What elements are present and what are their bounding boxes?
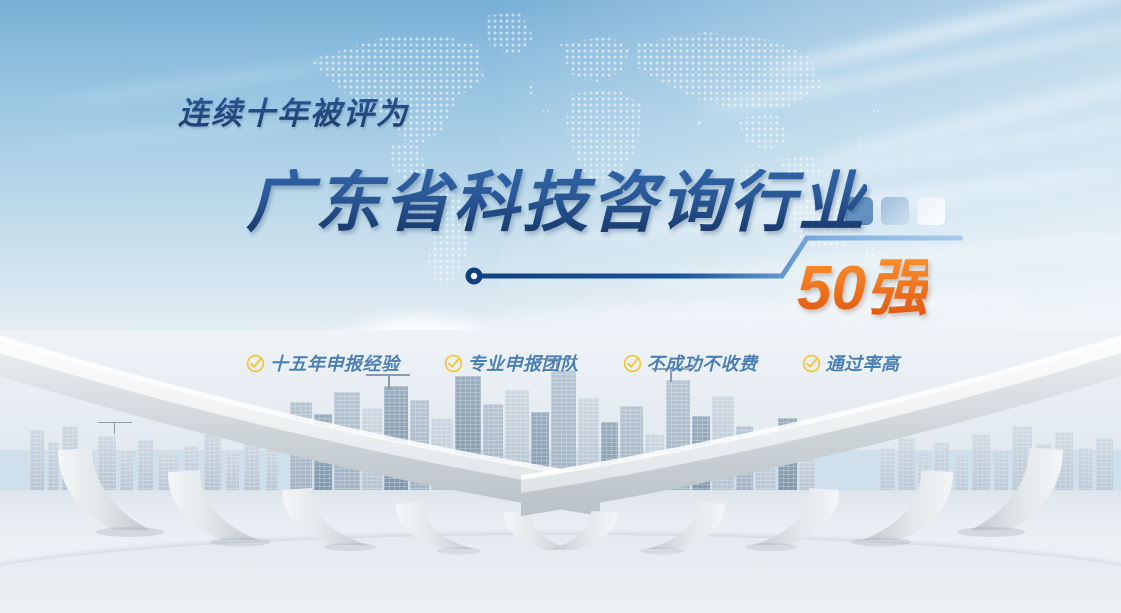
check-circle-icon: [802, 354, 821, 373]
check-circle-icon: [623, 354, 642, 373]
feature-label: 不成功不收费: [647, 350, 758, 376]
headline-text: 广东省科技咨询行业: [246, 169, 867, 235]
feature-label: 专业申报团队: [468, 350, 579, 376]
feature-item: 不成功不收费: [623, 350, 758, 376]
check-circle-icon: [444, 354, 463, 373]
feature-item: 十五年申报经验: [246, 350, 400, 376]
chip-mid-blue-icon: [881, 197, 909, 225]
feature-item: 通过率高: [802, 350, 900, 376]
feature-label: 通过率高: [826, 350, 900, 376]
badge-50-strong: 50强: [797, 258, 928, 320]
chip-white-icon: [917, 197, 945, 225]
check-circle-icon: [246, 354, 265, 373]
kicker-text: 连续十年被评为: [178, 88, 409, 133]
promo-banner: 连续十年被评为 广东省科技咨询行业 50强 十五年申报经验 专业申报团队 不成功…: [0, 0, 1121, 613]
feature-list: 十五年申报经验 专业申报团队 不成功不收费 通过率高: [246, 350, 906, 376]
feature-label: 十五年申报经验: [270, 350, 400, 376]
feature-item: 专业申报团队: [444, 350, 579, 376]
